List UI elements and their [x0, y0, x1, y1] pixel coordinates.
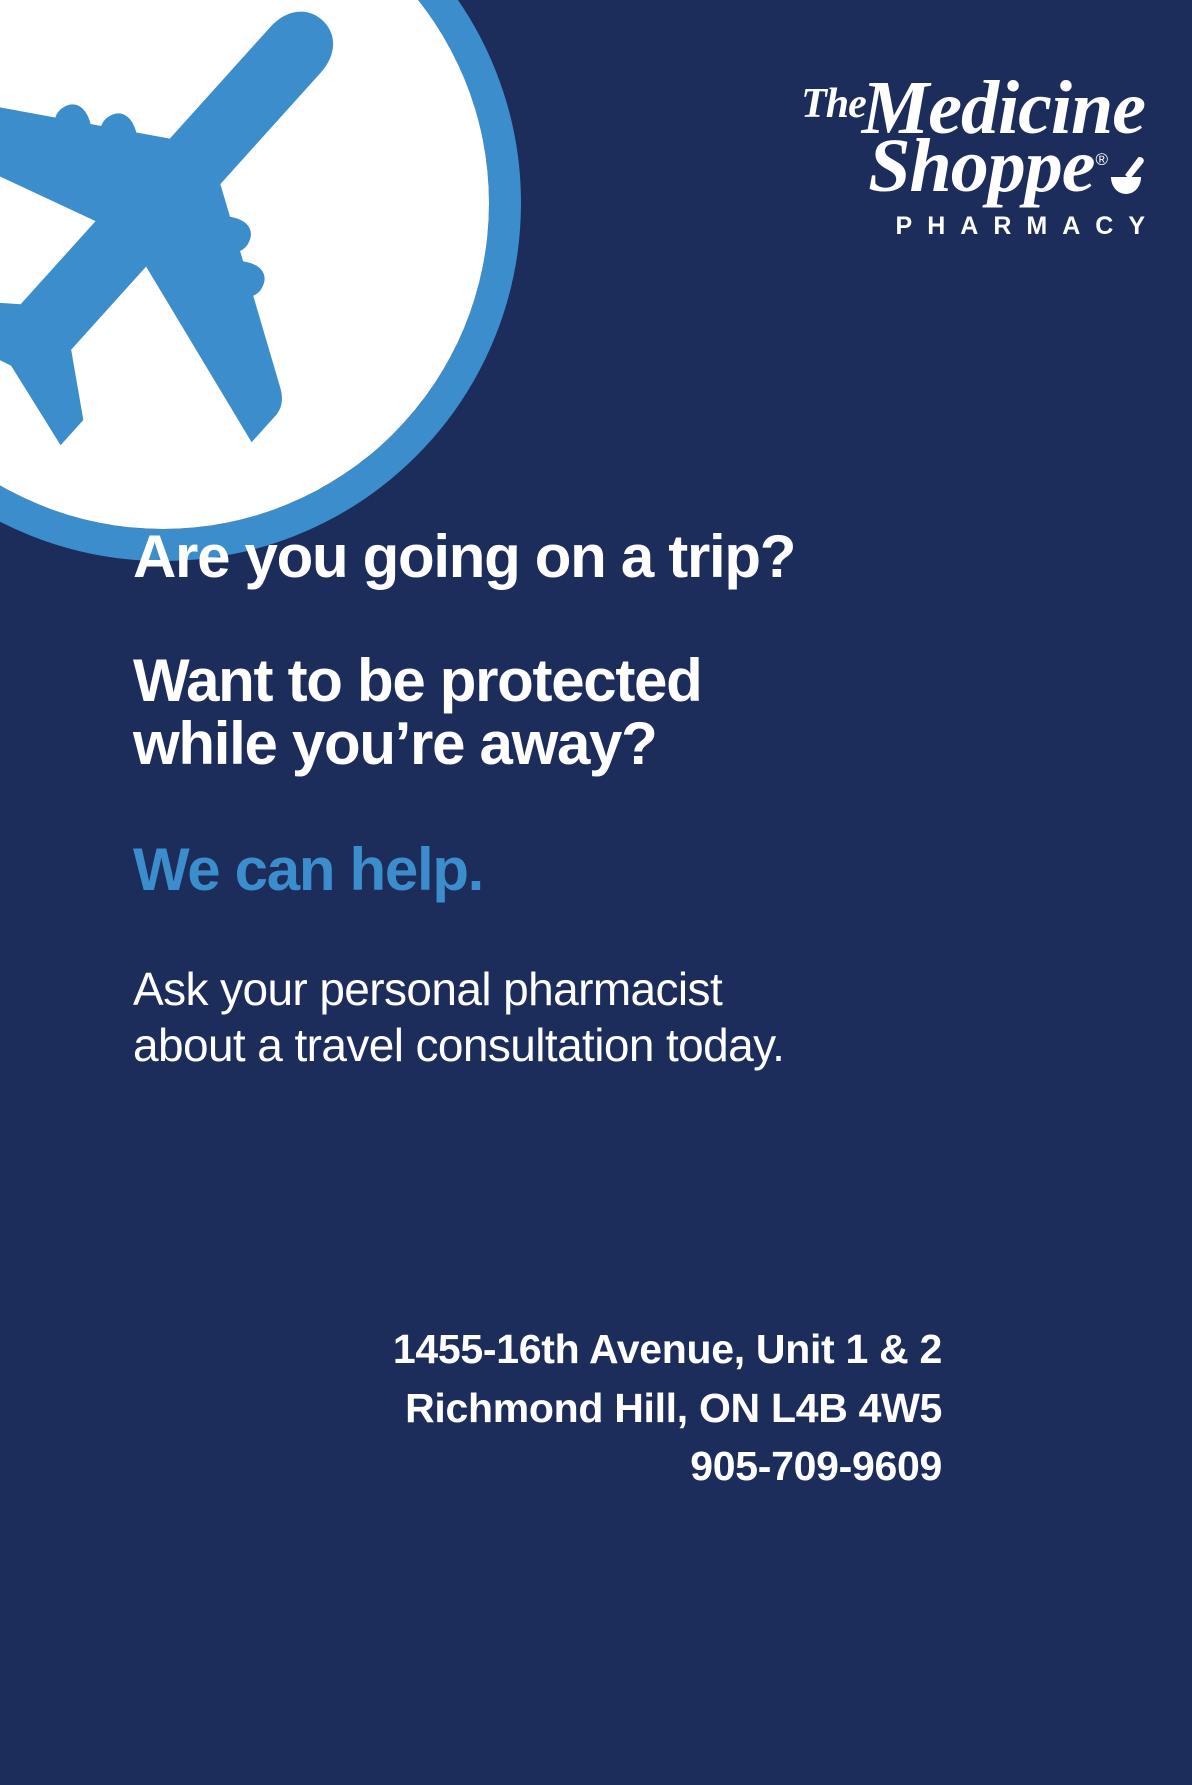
address-line-1: 1455-16th Avenue, Unit 1 & 2 — [393, 1320, 942, 1378]
headline-accent-we-can-help: We can help. — [133, 838, 993, 902]
logo-shoppe-line: Shoppe® — [727, 130, 1147, 202]
poster-canvas: TheMedicine Shoppe® PHARMACY Are you goi… — [0, 0, 1192, 1785]
copy-block: Are you going on a trip? Want to be prot… — [133, 525, 993, 1074]
address-block: 1455-16th Avenue, Unit 1 & 2 Richmond Hi… — [393, 1320, 942, 1495]
headline-question-1: Are you going on a trip? — [133, 525, 993, 589]
headline-question-2: Want to be protected while you’re away? — [133, 649, 993, 776]
logo-shoppe: Shoppe — [868, 124, 1094, 208]
registered-mark-icon: ® — [1095, 150, 1108, 169]
logo-the: The — [801, 81, 866, 127]
logo-pharmacy: PHARMACY — [727, 212, 1160, 241]
airplane-badge — [0, 0, 521, 561]
mortar-and-pestle-icon — [1109, 155, 1147, 195]
address-line-2: Richmond Hill, ON L4B 4W5 — [393, 1379, 942, 1437]
phone-number[interactable]: 905-709-9609 — [393, 1437, 942, 1495]
body-paragraph: Ask your personal pharmacist about a tra… — [133, 961, 993, 1073]
brand-logo: TheMedicine Shoppe® PHARMACY — [727, 74, 1147, 241]
